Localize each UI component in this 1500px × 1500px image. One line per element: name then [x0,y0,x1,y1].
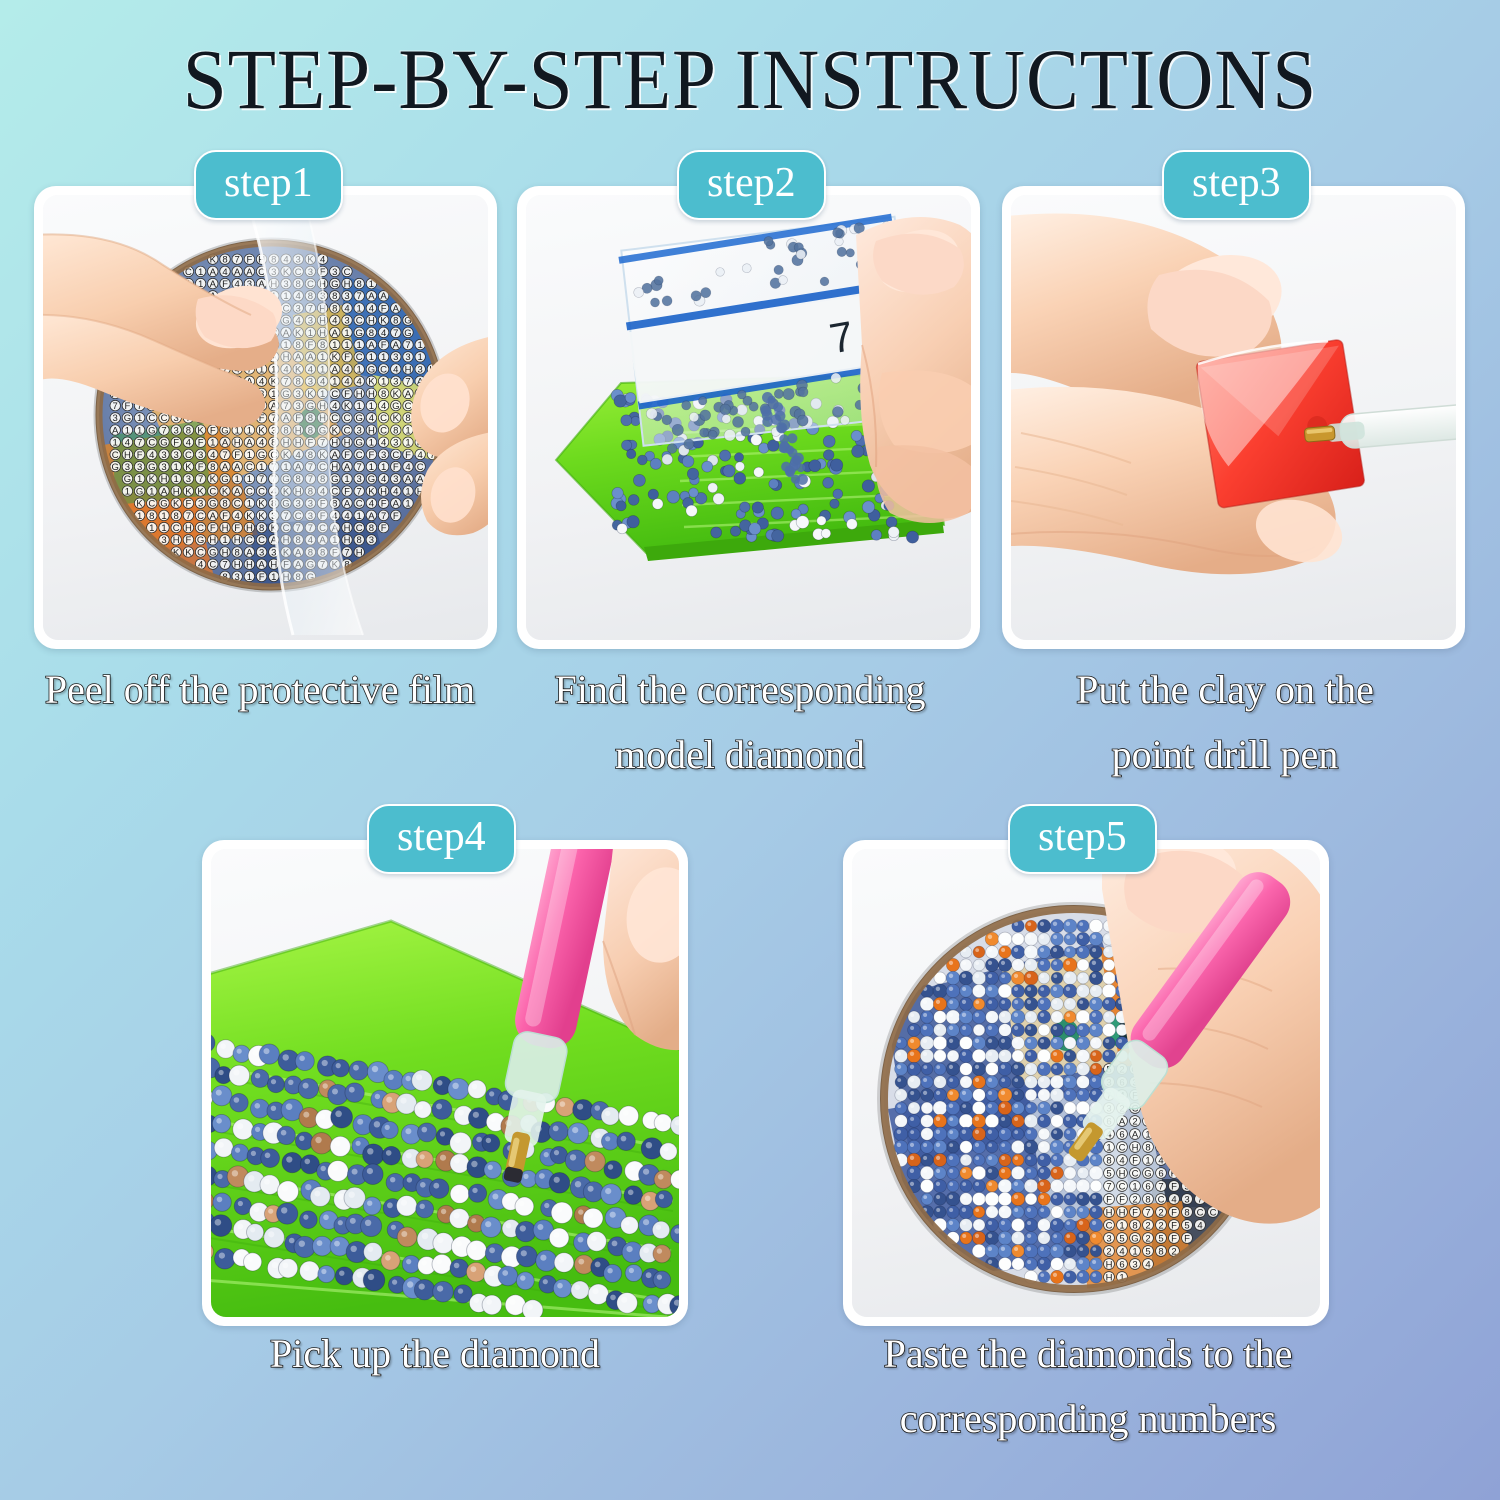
step-3-caption-line-1: Put the clay on the [985,658,1465,723]
svg-text:K: K [380,316,387,327]
svg-text:G: G [136,486,143,497]
svg-text:3: 3 [186,474,191,485]
step-4-caption: Pick up the diamond [195,1322,675,1387]
svg-text:C: C [148,499,155,510]
svg-text:4: 4 [222,267,227,278]
svg-text:1: 1 [381,462,386,473]
step-3-caption: Put the clay on the point drill pen [985,658,1465,788]
svg-text:4: 4 [369,303,374,314]
svg-text:K: K [332,425,339,436]
svg-text:1: 1 [247,474,252,485]
svg-text:K: K [246,511,253,522]
svg-text:F: F [210,523,216,534]
svg-text:4: 4 [344,364,349,375]
svg-text:1: 1 [357,364,362,375]
svg-text:A: A [344,462,351,473]
svg-text:7: 7 [1106,1181,1111,1192]
svg-text:2: 2 [1145,1220,1150,1231]
peel-film-illustration: K87FH843K4C1A4AAC3KC3F3CF11AF43AH38CHGH8… [43,195,488,640]
svg-text:H: H [331,438,338,449]
step-5-photo: 75326FCH22622G7CCG5FGG1712H4A77CAG52G41H… [852,849,1320,1317]
svg-text:7: 7 [259,474,264,485]
svg-text:F: F [1171,1233,1177,1244]
svg-text:C: C [197,511,204,522]
svg-text:1: 1 [357,303,362,314]
svg-text:C: C [1210,1207,1217,1218]
svg-text:1: 1 [222,535,227,546]
svg-text:F: F [1184,1233,1190,1244]
svg-text:4: 4 [1145,1259,1150,1270]
svg-text:G: G [392,401,399,412]
svg-text:7: 7 [393,328,398,339]
svg-text:K: K [136,499,143,510]
svg-text:3: 3 [405,352,410,363]
svg-text:C: C [209,486,216,497]
step-1-badge: step1 [194,150,343,220]
svg-text:1: 1 [344,328,349,339]
svg-text:C: C [1158,1194,1165,1205]
svg-text:8: 8 [235,547,240,558]
svg-text:H: H [368,425,375,436]
svg-text:G: G [148,425,155,436]
svg-text:4: 4 [320,255,325,266]
svg-text:7: 7 [357,486,362,497]
svg-text:C: C [331,413,338,424]
svg-text:H: H [356,389,363,400]
svg-text:H: H [270,560,277,571]
step-2-caption: Find the corresponding model diamond [500,658,980,788]
step-5-caption-line-2: corresponding numbers [838,1387,1338,1452]
svg-text:H: H [331,462,338,473]
svg-text:F: F [344,389,350,400]
svg-text:A: A [380,291,387,302]
svg-text:4: 4 [1119,1155,1124,1166]
step-2-photo-card: 7 [517,186,980,649]
svg-text:8: 8 [332,291,337,302]
svg-text:G: G [368,364,375,375]
svg-text:K: K [173,499,180,510]
svg-text:1: 1 [259,462,264,473]
svg-text:A: A [368,511,375,522]
svg-text:F: F [381,499,387,510]
step-3-card-wrapper: step3 [1002,186,1465,649]
svg-text:F: F [1171,1220,1177,1231]
svg-text:4: 4 [381,401,386,412]
svg-text:A: A [332,450,339,461]
svg-text:K: K [258,499,265,510]
step-1-photo-card: K87FH843K4C1A4AAC3KC3F3CF11AF43AH38CHGH8… [34,186,497,649]
svg-text:F: F [1132,1155,1138,1166]
svg-text:8: 8 [369,523,374,534]
svg-text:7: 7 [1158,1181,1163,1192]
svg-text:G: G [124,474,131,485]
svg-text:1: 1 [247,499,252,510]
svg-text:H: H [246,560,253,571]
svg-text:K: K [197,425,204,436]
svg-text:F: F [344,352,350,363]
svg-text:1: 1 [210,438,215,449]
svg-text:3: 3 [344,316,349,327]
svg-text:3: 3 [137,462,142,473]
svg-text:1: 1 [344,474,349,485]
svg-text:F: F [344,486,350,497]
svg-text:6: 6 [1145,1181,1150,1192]
svg-text:8: 8 [405,413,410,424]
svg-text:C: C [1197,1207,1204,1218]
svg-text:3: 3 [174,450,179,461]
svg-text:1: 1 [137,474,142,485]
svg-text:8: 8 [1158,1246,1163,1257]
svg-text:1: 1 [418,352,423,363]
svg-text:3: 3 [357,425,362,436]
svg-text:5: 5 [1119,1233,1124,1244]
svg-text:K: K [368,377,375,388]
step-1-caption: Peel off the protective film [20,658,500,723]
svg-text:1: 1 [357,511,362,522]
scene-pour-diamonds: 7 [526,195,971,640]
svg-text:3: 3 [161,462,166,473]
svg-text:G: G [356,328,363,339]
svg-text:H: H [185,523,192,534]
svg-text:8: 8 [222,255,227,266]
svg-text:7: 7 [1145,1207,1150,1218]
svg-text:A: A [368,291,375,302]
svg-text:A: A [112,425,119,436]
svg-text:7: 7 [357,291,362,302]
svg-text:F: F [393,462,399,473]
svg-text:C: C [173,523,180,534]
svg-text:G: G [160,499,167,510]
svg-text:F: F [124,401,130,412]
svg-text:1: 1 [405,438,410,449]
svg-text:K: K [344,401,351,412]
svg-text:7: 7 [186,511,191,522]
svg-text:H: H [173,486,180,497]
svg-text:1: 1 [137,413,142,424]
svg-text:K: K [149,474,156,485]
step-2-card-wrapper: 7 [517,186,980,649]
scene-pick-diamond [211,849,679,1317]
svg-text:1: 1 [357,401,362,412]
svg-text:H: H [368,316,375,327]
svg-text:7: 7 [381,511,386,522]
svg-text:H: H [344,523,351,534]
svg-text:K: K [393,389,400,400]
svg-text:4: 4 [259,438,264,449]
svg-text:K: K [393,413,400,424]
svg-text:G: G [221,474,228,485]
svg-text:1: 1 [369,352,374,363]
step-4-photo-card [202,840,688,1326]
svg-text:3: 3 [418,364,423,375]
svg-text:8: 8 [357,279,362,290]
svg-text:G: G [331,279,338,290]
step-3-caption-line-2: point drill pen [985,723,1465,788]
svg-text:4: 4 [344,303,349,314]
svg-text:K: K [185,547,192,558]
svg-text:1: 1 [1132,1246,1137,1257]
svg-text:7: 7 [161,425,166,436]
svg-text:F: F [185,535,191,546]
svg-text:H: H [209,535,216,546]
page-title: STEP-BY-STEP INSTRUCTIONS [60,36,1440,122]
svg-text:1: 1 [161,523,166,534]
svg-text:8: 8 [332,303,337,314]
svg-text:F: F [246,255,252,266]
svg-text:1: 1 [381,377,386,388]
svg-text:4: 4 [369,499,374,510]
svg-text:3: 3 [161,450,166,461]
svg-text:4: 4 [393,364,398,375]
svg-text:1: 1 [332,377,337,388]
svg-text:F: F [234,523,240,534]
svg-text:1: 1 [1106,1142,1111,1153]
svg-text:G: G [331,474,338,485]
svg-text:G: G [368,474,375,485]
svg-text:1: 1 [369,401,374,412]
svg-text:F: F [137,450,143,461]
clay-on-pen-illustration [1011,195,1456,640]
svg-text:7: 7 [198,474,203,485]
svg-text:H: H [1119,1207,1126,1218]
svg-text:3: 3 [198,450,203,461]
svg-text:8: 8 [369,328,374,339]
svg-text:C: C [1119,1181,1126,1192]
paste-diamonds-illustration: 75326FCH22622G7CCG5FGG1712H4A77CAG52G41H… [852,849,1320,1317]
svg-text:A: A [405,474,412,485]
step-2-caption-line-2: model diamond [500,723,980,788]
svg-text:A: A [246,438,253,449]
svg-text:C: C [1106,1220,1113,1231]
svg-text:C: C [356,450,363,461]
svg-text:4: 4 [235,511,240,522]
svg-text:K: K [197,486,204,497]
svg-text:A: A [246,267,253,278]
svg-text:H: H [368,389,375,400]
svg-text:4: 4 [344,377,349,388]
svg-text:F: F [198,438,204,449]
svg-text:C: C [356,523,363,534]
svg-text:4: 4 [125,438,130,449]
step-5-card-wrapper: 75326FCH22622G7CCG5FGG1712H4A77CAG52G41H… [843,840,1329,1326]
svg-text:8: 8 [381,389,386,400]
svg-text:5: 5 [1145,1246,1150,1257]
svg-text:1: 1 [405,499,410,510]
svg-text:G: G [148,462,155,473]
svg-text:1: 1 [161,511,166,522]
svg-text:H: H [234,560,241,571]
svg-text:K: K [185,462,192,473]
svg-text:H: H [344,279,351,290]
svg-text:F: F [381,340,387,351]
svg-text:3: 3 [393,377,398,388]
svg-text:A: A [234,267,241,278]
svg-text:4: 4 [381,474,386,485]
svg-text:8: 8 [1132,1220,1137,1231]
svg-text:C: C [331,389,338,400]
svg-text:G: G [209,547,216,558]
svg-text:3: 3 [113,413,118,424]
svg-text:8: 8 [210,462,215,473]
svg-text:7: 7 [222,560,227,571]
svg-text:6: 6 [1158,1168,1163,1179]
svg-text:G: G [404,328,411,339]
svg-text:3: 3 [369,535,374,546]
svg-text:C: C [161,413,168,424]
svg-text:H: H [1132,1142,1139,1153]
svg-text:F: F [198,462,204,473]
svg-text:3: 3 [393,474,398,485]
svg-text:1: 1 [369,462,374,473]
svg-text:5: 5 [1106,1168,1111,1179]
svg-text:C: C [405,401,412,412]
svg-text:H: H [173,535,180,546]
step-4-card-wrapper: step4 [202,840,688,1326]
svg-text:G: G [1131,1233,1138,1244]
svg-text:8: 8 [149,511,154,522]
svg-text:1: 1 [1132,1181,1137,1192]
svg-text:F: F [259,572,265,583]
svg-text:A: A [405,389,412,400]
svg-text:1: 1 [418,340,423,351]
svg-text:3: 3 [1106,1233,1111,1244]
step-2-photo: 7 [526,195,971,640]
svg-text:C: C [356,499,363,510]
svg-text:4: 4 [393,486,398,497]
svg-text:4: 4 [357,377,362,388]
svg-text:3: 3 [174,425,179,436]
svg-text:F: F [1171,1181,1177,1192]
svg-text:F: F [1132,1207,1138,1218]
svg-text:6: 6 [1119,1259,1124,1270]
svg-text:G: G [124,413,131,424]
svg-text:C: C [356,352,363,363]
svg-text:C: C [344,413,351,424]
svg-text:F: F [185,499,191,510]
svg-text:K: K [258,425,265,436]
svg-text:8: 8 [1106,1155,1111,1166]
pick-diamond-illustration [211,849,679,1317]
svg-text:1: 1 [344,340,349,351]
svg-text:4: 4 [332,401,337,412]
pour-diamonds-illustration: 7 [526,195,971,640]
svg-text:F: F [381,303,387,314]
svg-text:8: 8 [393,425,398,436]
svg-text:H: H [1106,1207,1113,1218]
svg-text:4: 4 [381,328,386,339]
svg-text:C: C [380,425,387,436]
svg-text:8: 8 [1145,1142,1150,1153]
svg-text:C: C [392,450,399,461]
svg-text:2: 2 [1132,1194,1137,1205]
step-1-card-wrapper: K87FH843K4C1A4AAC3KC3F3CF11AF43AH38CHGH8… [34,186,497,649]
svg-text:1: 1 [174,462,179,473]
svg-text:1: 1 [381,352,386,363]
svg-text:K: K [210,474,217,485]
svg-text:6: 6 [1119,1129,1124,1140]
svg-text:A: A [258,560,265,571]
svg-text:A: A [368,340,375,351]
svg-text:1: 1 [149,486,154,497]
svg-text:7: 7 [405,340,410,351]
svg-text:F: F [1106,1194,1112,1205]
svg-text:7: 7 [405,377,410,388]
svg-text:F: F [405,450,411,461]
svg-text:K: K [222,486,229,497]
svg-text:H: H [356,547,363,558]
svg-text:F: F [368,450,374,461]
svg-text:1: 1 [332,340,337,351]
svg-text:G: G [197,535,204,546]
step-3-photo [1011,195,1456,640]
svg-text:H: H [344,535,351,546]
svg-text:3: 3 [381,450,386,461]
svg-text:8: 8 [393,316,398,327]
svg-text:4: 4 [149,450,154,461]
svg-text:A: A [222,462,229,473]
scene-clay-on-pen [1011,195,1456,640]
svg-text:1: 1 [271,572,276,583]
svg-text:3: 3 [125,462,130,473]
svg-text:4: 4 [418,450,423,461]
svg-text:1: 1 [1119,1220,1124,1231]
svg-text:H: H [1106,1259,1113,1270]
svg-text:4: 4 [344,511,349,522]
svg-text:C: C [1119,1142,1126,1153]
svg-text:H: H [380,486,387,497]
svg-text:C: C [344,425,351,436]
svg-text:C: C [197,523,204,534]
svg-text:3: 3 [344,291,349,302]
svg-text:1: 1 [137,425,142,436]
svg-text:H: H [222,547,229,558]
svg-text:C: C [258,535,265,546]
svg-text:1: 1 [247,572,252,583]
svg-text:H: H [344,438,351,449]
svg-text:C: C [380,364,387,375]
svg-text:F: F [381,523,387,534]
svg-text:A: A [161,486,168,497]
svg-text:A: A [344,499,351,510]
svg-text:K: K [185,486,192,497]
svg-text:H: H [246,523,253,534]
svg-text:H: H [222,523,229,534]
svg-text:7: 7 [344,547,349,558]
svg-text:F: F [234,450,240,461]
svg-text:A: A [1132,1129,1139,1140]
svg-text:F: F [173,438,179,449]
svg-text:4: 4 [210,450,215,461]
svg-text:A: A [393,340,400,351]
svg-text:1: 1 [125,425,130,436]
svg-text:1: 1 [235,474,240,485]
step-5-caption-line-1: Paste the diamonds to the [838,1322,1338,1387]
svg-text:K: K [332,352,339,363]
svg-text:C: C [148,413,155,424]
svg-text:F: F [1119,1194,1125,1205]
svg-text:7: 7 [222,450,227,461]
svg-text:A: A [234,486,241,497]
svg-text:3: 3 [332,267,337,278]
svg-text:H: H [234,438,241,449]
svg-text:C: C [380,413,387,424]
svg-text:F: F [210,425,216,436]
svg-text:7: 7 [357,462,362,473]
svg-text:4: 4 [186,438,191,449]
svg-text:A: A [210,279,217,290]
svg-text:5: 5 [1184,1220,1189,1231]
svg-text:A: A [246,547,253,558]
